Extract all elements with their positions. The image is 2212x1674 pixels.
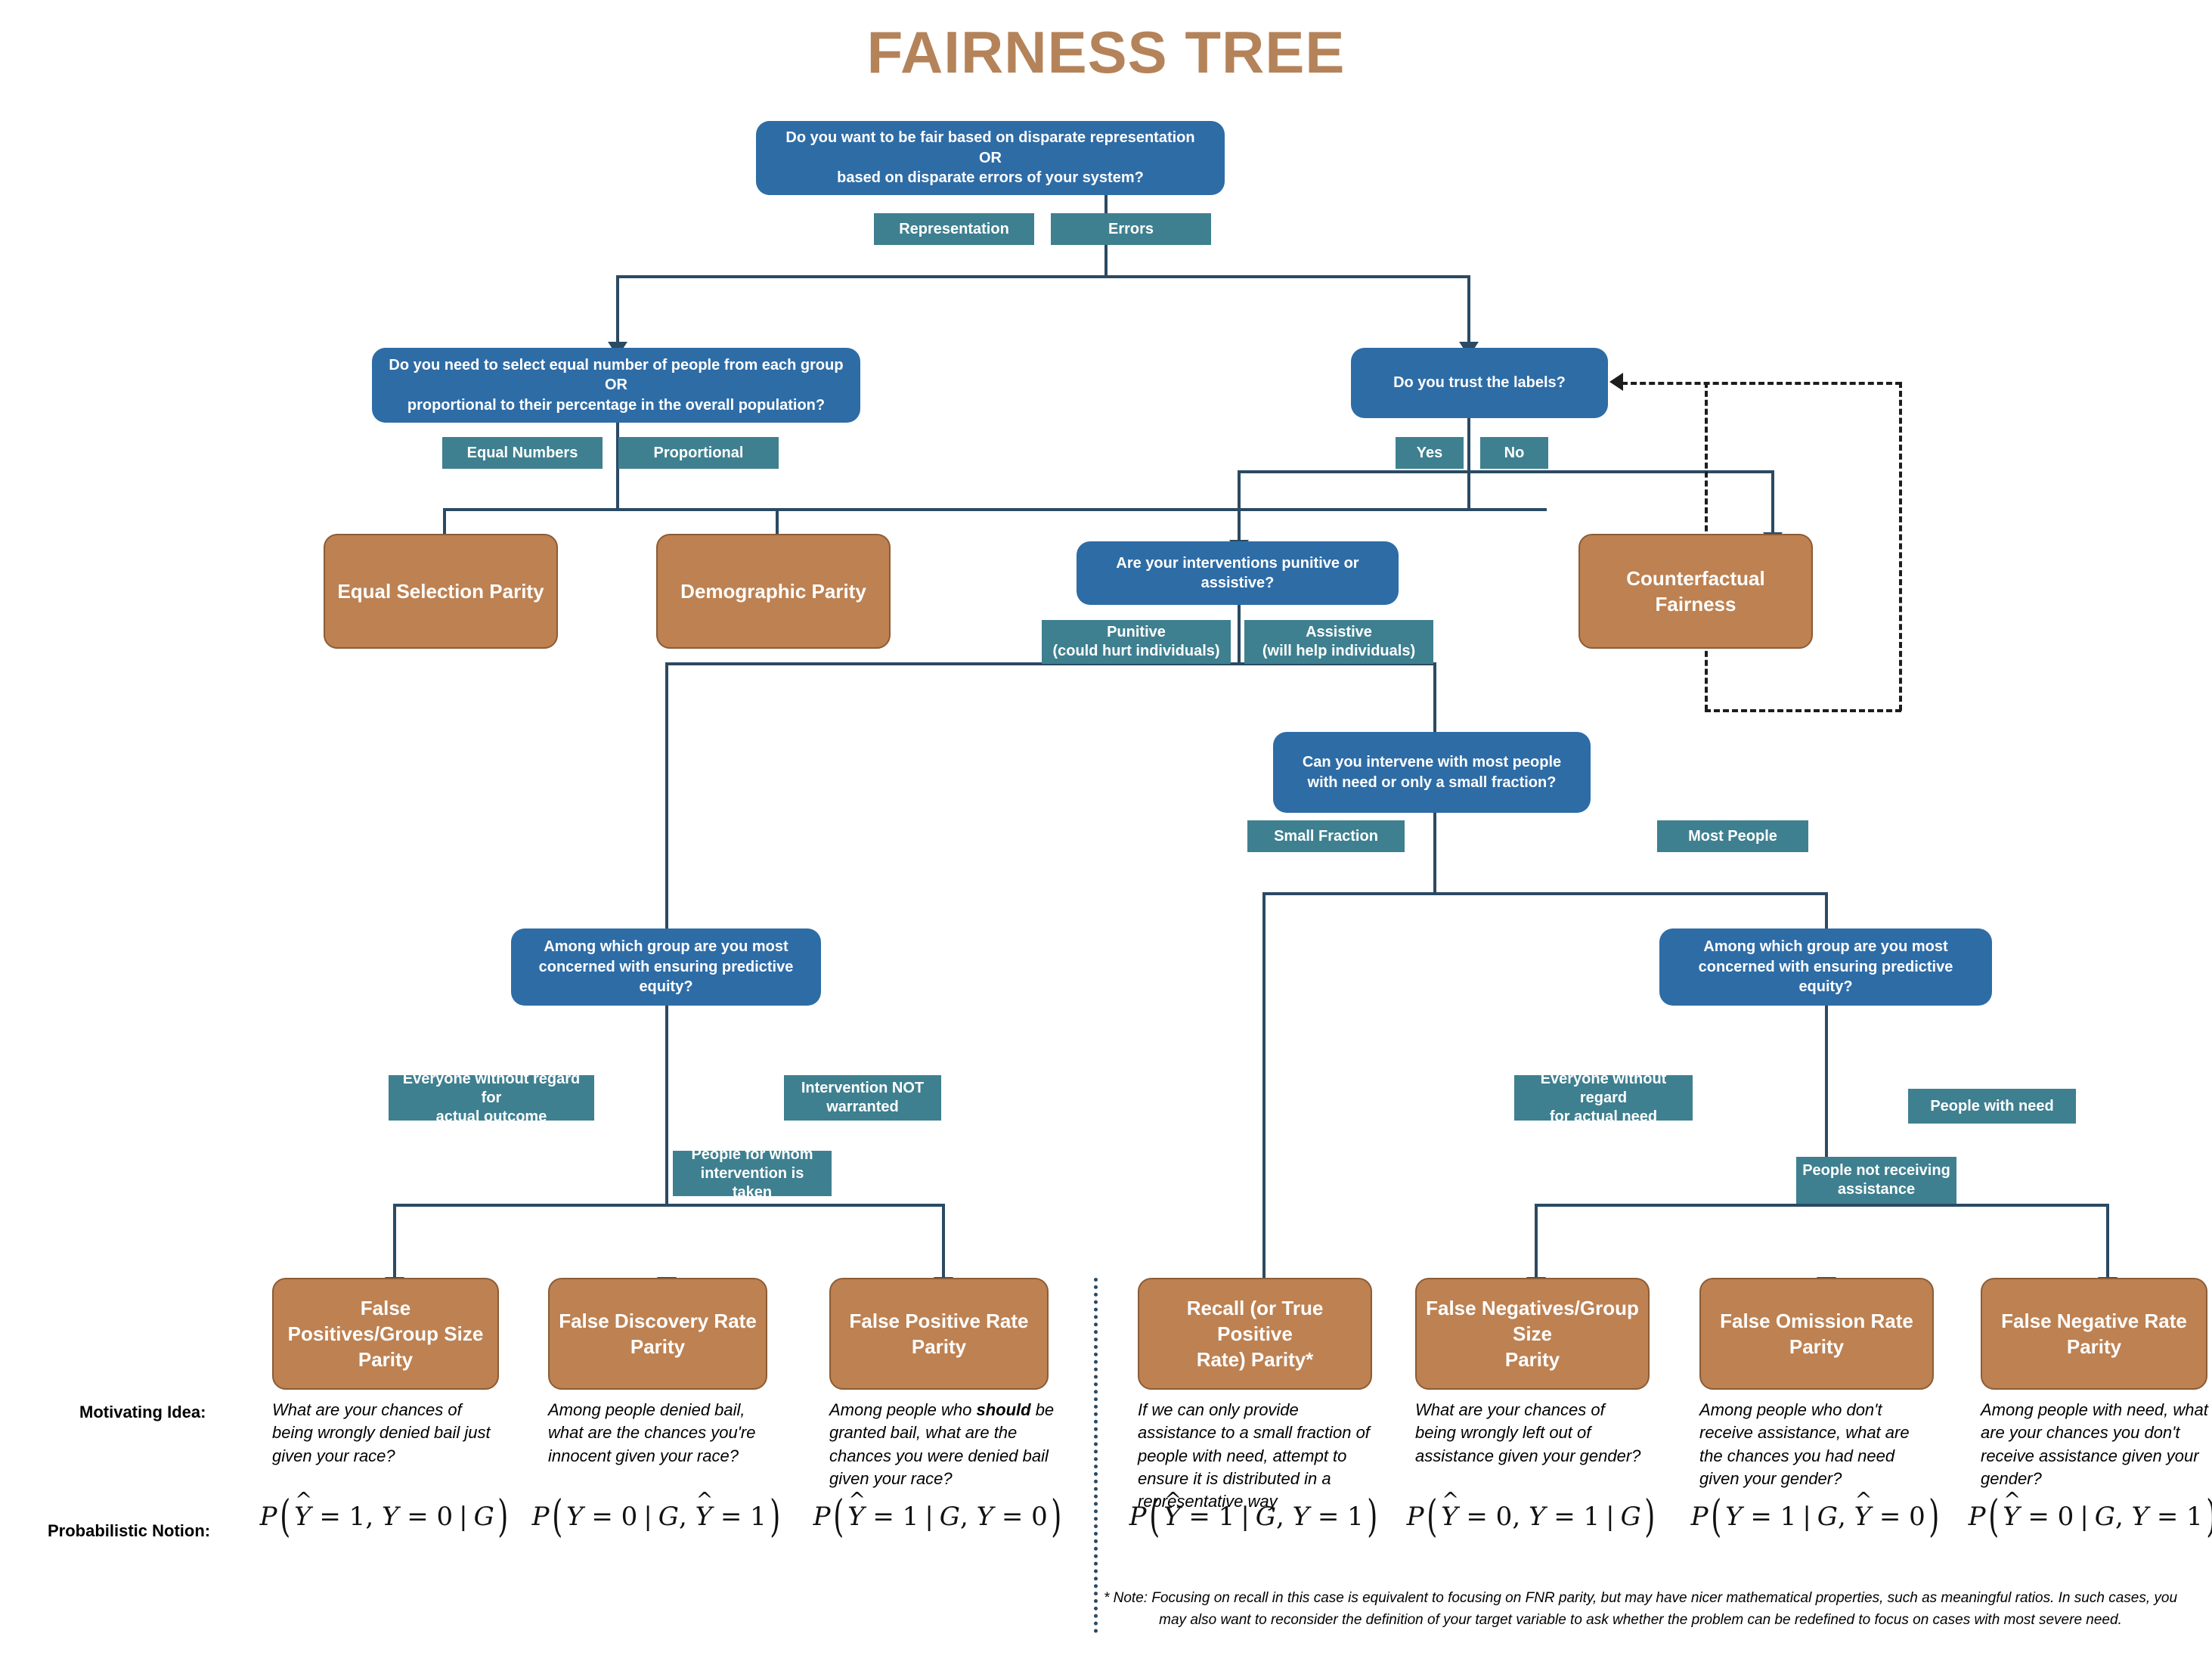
- edge-label-text: Small Fraction: [1274, 827, 1378, 846]
- edge-label-no[interactable]: No: [1480, 437, 1548, 469]
- connector: [1771, 470, 1774, 538]
- motivating-idea-text: Among people with need, what are your ch…: [1981, 1399, 2211, 1490]
- metric-label: False Discovery Rate Parity: [559, 1308, 757, 1360]
- edge-label-text: Yes: [1417, 444, 1442, 463]
- metric-label: False Positives/Group Size Parity: [283, 1295, 488, 1373]
- connector: [665, 1006, 668, 1207]
- connector: [1535, 1204, 2109, 1207]
- edge-label-text: Everyone without regard for actual outco…: [395, 1070, 588, 1127]
- metric-node[interactable]: Recall (or True Positive Rate) Parity*: [1138, 1278, 1372, 1390]
- connector: [1238, 605, 1241, 665]
- edge-label-text: Intervention NOT warranted: [801, 1079, 924, 1117]
- edge-label-most-people[interactable]: Most People: [1657, 820, 1808, 852]
- connector: [1467, 275, 1470, 348]
- edge-label-text: Errors: [1108, 220, 1154, 239]
- row-label-motivating-idea: Motivating Idea:: [79, 1403, 206, 1422]
- connector: [393, 1204, 396, 1283]
- question-node-intervene-scale[interactable]: Can you intervene with most people with …: [1273, 732, 1591, 813]
- metric-label: False Positive Rate Parity: [850, 1308, 1029, 1360]
- motivating-idea-pre: Among people who: [829, 1400, 976, 1419]
- connector: [2106, 1204, 2109, 1283]
- metric-node[interactable]: False Omission Rate Parity: [1699, 1278, 1934, 1390]
- section-divider: [1094, 1278, 1098, 1633]
- footnote-text: * Note: Focusing on recall in this case …: [1096, 1588, 2185, 1631]
- motivating-idea-text: What are your chances of being wrongly l…: [1415, 1399, 1650, 1468]
- edge-label-intervention-not-warranted[interactable]: Intervention NOT warranted: [784, 1075, 941, 1121]
- edge-label-people-not-receiving[interactable]: People not receiving assistance: [1796, 1157, 1956, 1204]
- connector: [1467, 418, 1470, 511]
- edge-label-text: Most People: [1688, 827, 1777, 846]
- question-text: Among which group are you most concerned…: [1670, 937, 1981, 997]
- question-node-trust-labels[interactable]: Do you trust the labels?: [1351, 348, 1608, 418]
- question-text: Can you intervene with most people with …: [1303, 752, 1561, 792]
- metric-node[interactable]: False Negatives/Group Size Parity: [1415, 1278, 1650, 1390]
- connector: [1433, 813, 1436, 894]
- dashed-connector: [1705, 709, 1901, 712]
- probabilistic-formula: P(Y = 0|G, Y^ = 1): [544, 1501, 771, 1533]
- connector: [1535, 1204, 1538, 1283]
- edge-label-text: People with need: [1930, 1097, 2053, 1116]
- question-text: Do you need to select equal number of pe…: [389, 355, 843, 415]
- probabilistic-formula: P(Y = 1|G, Y^ = 0): [1696, 1501, 1938, 1533]
- edge-label-text: Punitive (could hurt individuals): [1052, 623, 1219, 661]
- edge-label-text: Everyone without regard for actual need: [1520, 1070, 1687, 1127]
- metric-node[interactable]: False Discovery Rate Parity: [548, 1278, 767, 1390]
- outcome-node-demographic-parity[interactable]: Demographic Parity: [656, 534, 891, 649]
- edge-label-proportional[interactable]: Proportional: [618, 437, 779, 469]
- page-title: FAIRNESS TREE: [0, 18, 2212, 87]
- edge-label-errors[interactable]: Errors: [1051, 213, 1211, 245]
- dashed-arrow-head: [1609, 373, 1623, 391]
- connector: [393, 1204, 945, 1207]
- edge-label-text: People for whom intervention is taken: [679, 1145, 826, 1202]
- motivating-idea-emphasis: should: [976, 1400, 1030, 1419]
- edge-label-everyone-need[interactable]: Everyone without regard for actual need: [1514, 1075, 1693, 1121]
- connector: [942, 1204, 945, 1283]
- question-text: Do you want to be fair based on disparat…: [785, 128, 1194, 188]
- probabilistic-formula: P(Y^ = 0, Y = 1|G): [1411, 1501, 1653, 1533]
- connector: [443, 508, 1547, 511]
- question-text: Are your interventions punitive or assis…: [1087, 553, 1388, 594]
- edge-label-everyone-outcome[interactable]: Everyone without regard for actual outco…: [389, 1075, 594, 1121]
- motivating-idea-text: Among people who don't receive assistanc…: [1699, 1399, 1934, 1490]
- question-node-root[interactable]: Do you want to be fair based on disparat…: [756, 121, 1225, 195]
- metric-node[interactable]: False Negative Rate Parity: [1981, 1278, 2207, 1390]
- metric-node[interactable]: False Positive Rate Parity: [829, 1278, 1049, 1390]
- edge-label-punitive[interactable]: Punitive (could hurt individuals): [1042, 620, 1231, 664]
- edge-label-text: People not receiving assistance: [1802, 1161, 1950, 1199]
- connector: [1262, 892, 1266, 1285]
- outcome-label: Equal Selection Parity: [337, 578, 544, 604]
- connector: [1262, 892, 1828, 895]
- edge-label-equal-numbers[interactable]: Equal Numbers: [442, 437, 603, 469]
- connector: [1238, 470, 1241, 546]
- edge-label-text: Proportional: [654, 444, 744, 463]
- question-text: Among which group are you most concerned…: [522, 937, 810, 997]
- question-text: Do you trust the labels?: [1393, 373, 1566, 392]
- question-node-predictive-equity-right[interactable]: Among which group are you most concerned…: [1659, 928, 1992, 1006]
- probabilistic-formula: P(Y^ = 1|G, Y = 0): [826, 1501, 1052, 1533]
- connector: [1238, 470, 1774, 473]
- motivating-idea-text: What are your chances of being wrongly d…: [272, 1399, 499, 1468]
- connector: [616, 275, 619, 348]
- outcome-label: Counterfactual Fairness: [1589, 566, 1802, 618]
- motivating-idea-text: Among people who should be granted bail,…: [829, 1399, 1060, 1490]
- dashed-connector: [1622, 382, 1901, 385]
- probabilistic-formula: P(Y^ = 0|G, Y = 1): [1977, 1501, 2211, 1533]
- row-label-probabilistic-notion: Probabilistic Notion:: [48, 1521, 210, 1541]
- metric-label: False Negatives/Group Size Parity: [1426, 1295, 1639, 1373]
- edge-label-people-intervention-taken[interactable]: People for whom intervention is taken: [673, 1151, 832, 1196]
- question-node-predictive-equity-left[interactable]: Among which group are you most concerned…: [511, 928, 821, 1006]
- edge-label-people-with-need[interactable]: People with need: [1908, 1089, 2076, 1124]
- probabilistic-formula: P(Y^ = 1, Y = 0|G): [268, 1501, 503, 1533]
- outcome-node-counterfactual-fairness[interactable]: Counterfactual Fairness: [1578, 534, 1813, 649]
- question-node-interventions[interactable]: Are your interventions punitive or assis…: [1077, 541, 1399, 605]
- outcome-node-equal-selection-parity[interactable]: Equal Selection Parity: [324, 534, 558, 649]
- edge-label-yes[interactable]: Yes: [1396, 437, 1464, 469]
- question-node-representation-split[interactable]: Do you need to select equal number of pe…: [372, 348, 860, 423]
- outcome-label: Demographic Parity: [680, 578, 866, 604]
- edge-label-assistive[interactable]: Assistive (will help individuals): [1244, 620, 1433, 664]
- metric-label: Recall (or True Positive Rate) Parity*: [1148, 1295, 1362, 1373]
- edge-label-text: No: [1504, 444, 1525, 463]
- edge-label-representation[interactable]: Representation: [874, 213, 1034, 245]
- probabilistic-formula: P(Y^ = 1|G, Y = 1): [1134, 1501, 1376, 1533]
- metric-node[interactable]: False Positives/Group Size Parity: [272, 1278, 499, 1390]
- edge-label-text: Representation: [899, 220, 1009, 239]
- edge-label-small-fraction[interactable]: Small Fraction: [1247, 820, 1405, 852]
- edge-label-text: Equal Numbers: [467, 444, 578, 463]
- fairness-tree-diagram: FAIRNESS TREE: [0, 0, 2212, 1674]
- connector: [665, 662, 668, 935]
- edge-label-text: Assistive (will help individuals): [1262, 623, 1415, 661]
- connector: [616, 275, 1470, 278]
- dashed-connector: [1899, 382, 1902, 711]
- metric-label: False Negative Rate Parity: [2001, 1308, 2187, 1360]
- metric-label: False Omission Rate Parity: [1720, 1308, 1913, 1360]
- motivating-idea-text: Among people denied bail, what are the c…: [548, 1399, 775, 1468]
